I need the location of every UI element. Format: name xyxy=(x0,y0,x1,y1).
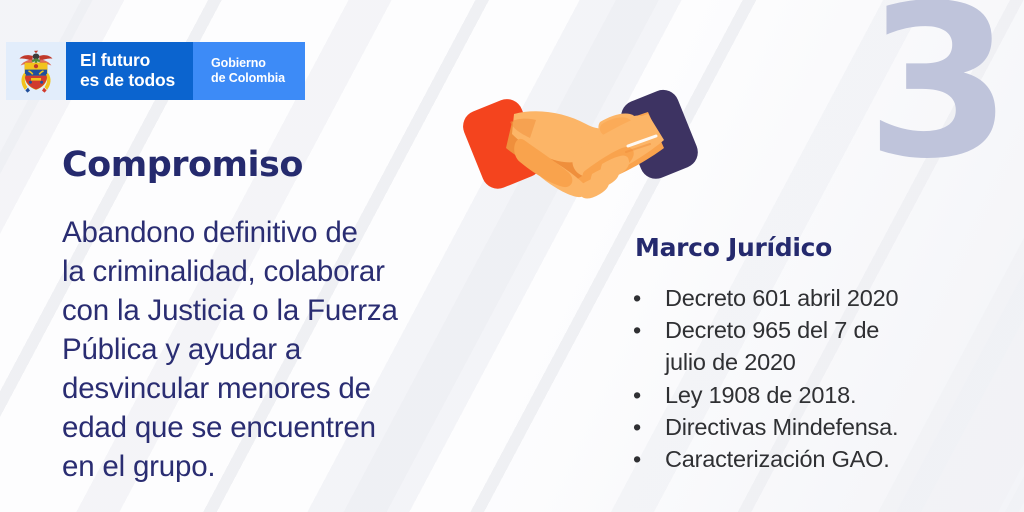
list-item: • Directivas Mindefensa. xyxy=(633,411,1015,443)
body-line: Abandono definitivo de xyxy=(62,214,522,253)
list-item: • Caracterización GAO. xyxy=(633,443,1015,475)
gov-logo-bar: El futuro es de todos Gobierno de Colomb… xyxy=(6,42,305,100)
bullet-icon: • xyxy=(633,443,649,475)
bullet-icon: • xyxy=(633,411,649,443)
page-title: Compromiso xyxy=(62,145,303,185)
logo-entity-line1: Gobierno xyxy=(211,56,266,70)
colombia-coat-of-arms-icon xyxy=(6,42,66,100)
logo-entity: Gobierno de Colombia xyxy=(193,42,305,100)
body-line: Pública y ayudar a xyxy=(62,331,522,370)
list-item: • Decreto 601 abril 2020 xyxy=(633,282,1015,314)
list-item-text: Caracterización GAO. xyxy=(665,446,890,472)
legal-framework-heading: Marco Jurídico xyxy=(635,233,832,262)
list-item: • Ley 1908 de 2018. xyxy=(633,379,1015,411)
legal-framework-list: • Decreto 601 abril 2020 • Decreto 965 d… xyxy=(633,282,1015,475)
slide-number: 3 xyxy=(866,0,1006,188)
logo-entity-line2: de Colombia xyxy=(211,71,285,85)
body-line: en el grupo. xyxy=(62,448,522,487)
list-item-text: Decreto 965 del 7 de xyxy=(665,317,879,343)
body-line: la criminalidad, colaborar xyxy=(62,253,522,292)
list-item-text: julio de 2020 xyxy=(665,349,796,375)
list-item: • Decreto 965 del 7 de julio de 2020 xyxy=(633,314,1015,378)
logo-slogan: El futuro es de todos xyxy=(66,42,193,100)
list-item-text: Directivas Mindefensa. xyxy=(665,414,898,440)
bullet-icon: • xyxy=(633,282,649,314)
list-item-text: Decreto 601 abril 2020 xyxy=(665,285,898,311)
bullet-icon: • xyxy=(633,379,649,411)
list-item-text: Ley 1908 de 2018. xyxy=(665,382,856,408)
logo-slogan-line1: El futuro xyxy=(80,50,150,70)
body-line: con la Justicia o la Fuerza xyxy=(62,292,522,331)
commitment-body: Abandono definitivo de la criminalidad, … xyxy=(62,214,522,487)
logo-slogan-line2: es de todos xyxy=(80,70,175,90)
handshake-illustration xyxy=(452,78,708,208)
body-line: edad que se encuentren xyxy=(62,409,522,448)
body-line: desvincular menores de xyxy=(62,370,522,409)
bullet-icon: • xyxy=(633,314,649,378)
slide-canvas: 3 xyxy=(0,0,1024,512)
